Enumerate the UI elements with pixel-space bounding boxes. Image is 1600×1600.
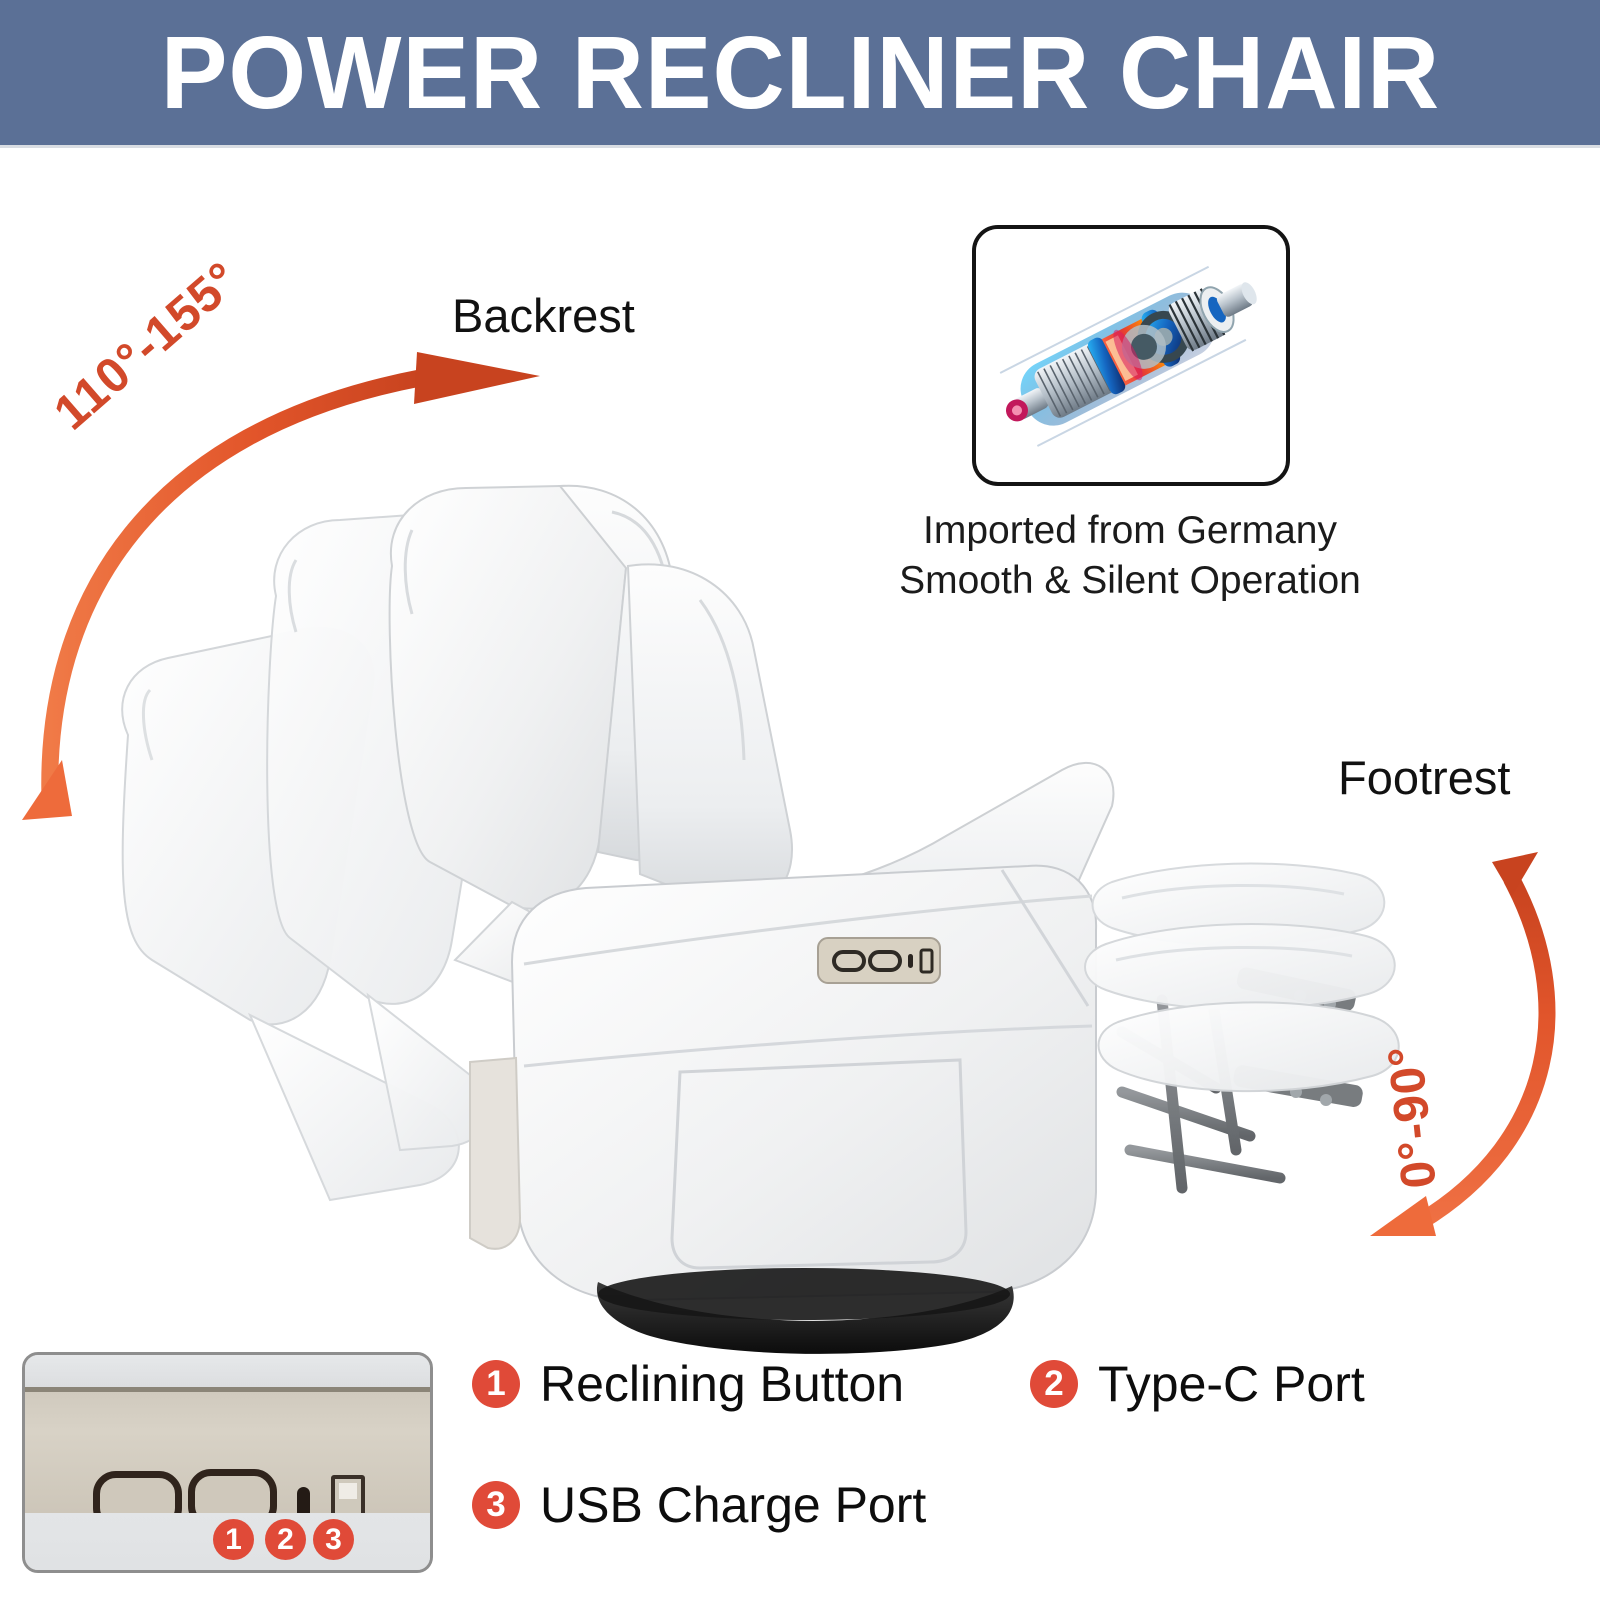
motor-caption-line1: Imported from Germany: [860, 506, 1400, 556]
legend-label-3: USB Charge Port: [540, 1476, 926, 1534]
legend-item-reclining-button: 1 Reclining Button: [472, 1355, 904, 1413]
inset-panel-strip: [25, 1387, 430, 1513]
backrest-label: Backrest: [452, 288, 635, 343]
control-panel-inset: 1 2 3: [22, 1352, 433, 1573]
infographic-canvas: POWER RECLINER CHAIR: [0, 0, 1600, 1600]
legend-label-2: Type-C Port: [1098, 1355, 1365, 1413]
legend-label-1: Reclining Button: [540, 1355, 904, 1413]
inset-fabric-top: [25, 1355, 430, 1387]
inset-marker-2: 2: [265, 1519, 306, 1560]
inset-marker-1: 1: [213, 1519, 254, 1560]
legend-item-usb-charge-port: 3 USB Charge Port: [472, 1476, 926, 1534]
legend-item-type-c-port: 2 Type-C Port: [1030, 1355, 1365, 1413]
motor-cutaway-icon: [976, 229, 1278, 474]
footrest-label: Footrest: [1338, 750, 1510, 805]
armrest-control-panel: [818, 938, 940, 983]
legend-badge-2: 2: [1030, 1360, 1078, 1408]
legend-badge-1: 1: [472, 1360, 520, 1408]
inset-marker-3: 3: [313, 1519, 354, 1560]
motor-caption: Imported from Germany Smooth & Silent Op…: [860, 506, 1400, 606]
chair-body-armrest: [470, 866, 1096, 1301]
legend-badge-3: 3: [472, 1481, 520, 1529]
motor-image-card: [972, 225, 1290, 486]
swivel-base: [597, 1268, 1014, 1354]
footrest-ghost-positions: [1085, 864, 1399, 1092]
motor-caption-line2: Smooth & Silent Operation: [860, 556, 1400, 606]
